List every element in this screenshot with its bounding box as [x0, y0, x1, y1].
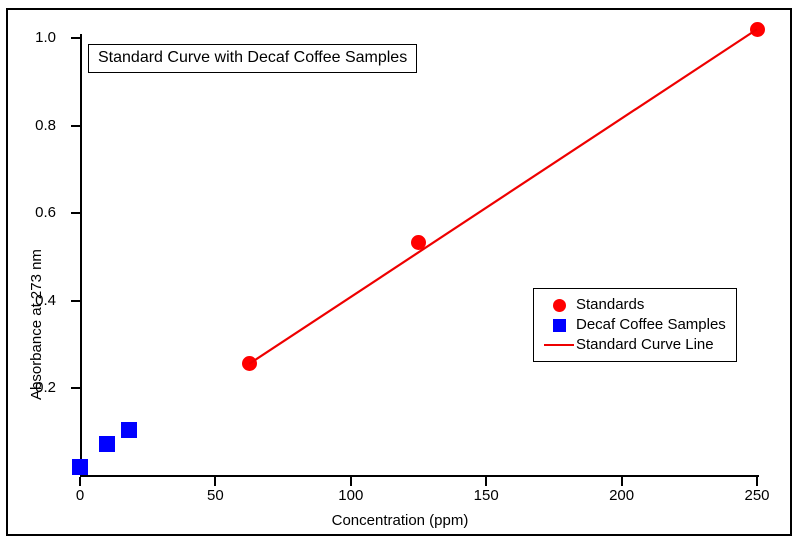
legend-label: Standards: [576, 297, 644, 313]
data-point-circle: [242, 356, 257, 371]
legend-marker: [542, 299, 576, 312]
data-point-circle: [750, 22, 765, 37]
chart-plot-area: 0.20.40.60.81.0050100150200250 Standard …: [0, 0, 800, 544]
x-axis-tick: [79, 477, 81, 486]
x-axis-tick: [214, 477, 216, 486]
x-axis-tick: [756, 477, 758, 486]
legend-label: Decaf Coffee Samples: [576, 317, 726, 333]
y-axis-tick: [71, 387, 80, 389]
x-axis-tick-label: 50: [185, 488, 245, 503]
x-axis-tick-label: 100: [321, 488, 381, 503]
data-point-square: [99, 436, 115, 452]
y-axis-tick-label: 0.6: [10, 205, 56, 220]
x-axis-label: Concentration (ppm): [0, 512, 800, 529]
legend-marker: [542, 319, 576, 332]
data-point-square: [72, 459, 88, 475]
legend-square-icon: [553, 319, 566, 332]
y-axis-spine: [80, 34, 82, 477]
legend-label: Standard Curve Line: [576, 337, 714, 353]
y-axis-tick: [71, 212, 80, 214]
x-axis-tick-label: 150: [456, 488, 516, 503]
y-axis-tick-label: 1.0: [10, 30, 56, 45]
y-axis-tick: [71, 300, 80, 302]
x-axis-tick: [350, 477, 352, 486]
chart-legend: StandardsDecaf Coffee SamplesStandard Cu…: [533, 288, 737, 362]
x-axis-tick: [621, 477, 623, 486]
legend-item: Decaf Coffee Samples: [542, 315, 726, 335]
y-axis-tick: [71, 37, 80, 39]
x-axis-spine: [80, 475, 759, 477]
legend-line-icon: [544, 344, 574, 346]
x-axis-tick-label: 0: [50, 488, 110, 503]
x-axis-tick-label: 250: [727, 488, 787, 503]
standard-curve-line: [0, 0, 800, 544]
legend-circle-icon: [553, 299, 566, 312]
chart-title: Standard Curve with Decaf Coffee Samples: [98, 49, 407, 66]
x-axis-tick-label: 200: [592, 488, 652, 503]
x-axis-tick: [485, 477, 487, 486]
y-axis-label: Absorbance at 273 nm: [28, 249, 45, 400]
chart-title-box: Standard Curve with Decaf Coffee Samples: [88, 44, 417, 73]
legend-item: Standards: [542, 295, 726, 315]
y-axis-tick-label: 0.8: [10, 118, 56, 133]
legend-marker: [542, 344, 576, 346]
y-axis-tick: [71, 125, 80, 127]
data-point-square: [121, 422, 137, 438]
legend-item: Standard Curve Line: [542, 335, 726, 355]
data-point-circle: [411, 235, 426, 250]
